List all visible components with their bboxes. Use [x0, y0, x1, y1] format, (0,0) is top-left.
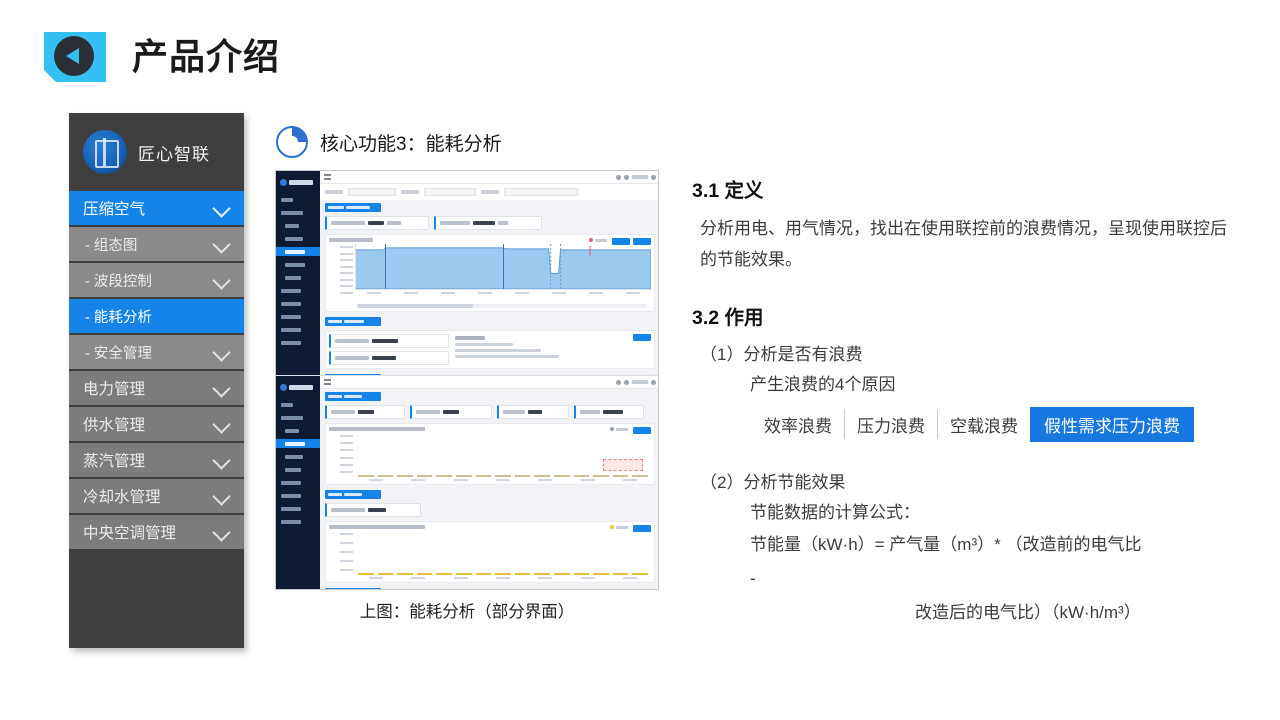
- app-nav-item[interactable]: [276, 260, 320, 269]
- app-nav-item[interactable]: [276, 491, 320, 500]
- app-brand-label: [289, 385, 313, 390]
- slide-canvas: 产品介绍 匠心智联 压缩空气 - 组态图 - 波段控制 - 能耗分析: [0, 0, 1280, 720]
- purpose-item-1: （1）分析是否有浪费: [692, 340, 1240, 370]
- app-nav-item[interactable]: [276, 299, 320, 308]
- chevron-down-icon[interactable]: [212, 271, 230, 289]
- export-button[interactable]: [633, 525, 651, 532]
- sidebar-item-label: 电力管理: [83, 377, 145, 399]
- sidebar-item-label: 中央空调管理: [83, 521, 176, 543]
- heading-purpose: 3.2 作用: [692, 301, 1240, 330]
- filter-select-station[interactable]: [348, 188, 396, 196]
- sidebar-item-compressed-air[interactable]: 压缩空气: [69, 191, 244, 225]
- app-nav: [276, 195, 320, 347]
- screenshot-stack: [276, 171, 659, 590]
- kpi-card-ratio-after: [410, 405, 492, 419]
- app-nav-item[interactable]: [276, 195, 320, 204]
- tab-row: [320, 314, 659, 328]
- embedded-screenshot: [275, 170, 659, 590]
- app-nav-item-active[interactable]: [276, 439, 320, 448]
- section-heading: 核心功能3：能耗分析: [276, 126, 502, 158]
- app-nav-item[interactable]: [276, 413, 320, 422]
- app-nav-item[interactable]: [276, 517, 320, 526]
- kpi-card-gas-volume: [325, 216, 429, 230]
- x-axis: [355, 575, 651, 579]
- panel-power-bar-chart: [325, 521, 655, 583]
- screenshot-pane-top: [276, 171, 659, 376]
- user-name-label: [632, 380, 648, 384]
- tab-saving-analysis[interactable]: [325, 392, 381, 401]
- app-nav-item[interactable]: [276, 234, 320, 243]
- sidebar-item-label: 供水管理: [83, 413, 145, 435]
- app-nav-item[interactable]: [276, 286, 320, 295]
- heading-definition: 3.1 定义: [692, 174, 1240, 203]
- sidebar-item-label: - 安全管理: [85, 342, 152, 363]
- triangle-glyph: [66, 48, 79, 64]
- gear-icon[interactable]: [651, 175, 656, 180]
- topbar-actions: [616, 175, 656, 180]
- app-topbar: [320, 376, 659, 389]
- tab-trend-analysis[interactable]: [325, 203, 381, 212]
- x-axis: [355, 290, 651, 294]
- app-logo-icon: [280, 179, 287, 186]
- header-badge: [44, 32, 106, 82]
- app-nav-item[interactable]: [276, 452, 320, 461]
- tab-row: [320, 585, 659, 590]
- tab-row: [320, 389, 659, 403]
- y-axis: [329, 433, 355, 481]
- panel-title: [329, 238, 373, 242]
- app-nav: [276, 400, 320, 526]
- app-content: [320, 171, 659, 376]
- panel-title: [329, 525, 425, 529]
- chevron-down-icon[interactable]: [212, 415, 230, 433]
- app-brand: [276, 380, 320, 394]
- sidebar-item-label: 压缩空气: [83, 197, 145, 219]
- formula-dash: -: [750, 562, 1240, 596]
- filter-bar: [320, 184, 659, 200]
- detail-button[interactable]: [633, 334, 651, 341]
- area-plot: [355, 244, 651, 290]
- menu-burger-icon[interactable]: [324, 379, 331, 385]
- kpi-card-ratio-before: [325, 405, 405, 419]
- chevron-down-icon[interactable]: [212, 343, 230, 361]
- sidebar-item-label: 冷却水管理: [83, 485, 161, 507]
- chevron-down-icon[interactable]: [212, 235, 230, 253]
- chip-idle-waste[interactable]: 空载浪费: [938, 407, 1030, 442]
- tab-energy-report[interactable]: [325, 588, 381, 590]
- chip-false-demand-pressure-waste[interactable]: 假性需求压力浪费: [1030, 407, 1194, 442]
- legend-item: [589, 238, 607, 242]
- panel-title: [329, 427, 425, 431]
- donut-chart-icon: [276, 126, 308, 158]
- filter-select-device[interactable]: [424, 188, 476, 196]
- export-button[interactable]: [633, 427, 651, 434]
- sidebar-item-band-control[interactable]: - 波段控制: [69, 263, 244, 297]
- sidebar-item-scada-diagram[interactable]: - 组态图: [69, 227, 244, 261]
- app-sidebar: [276, 171, 320, 375]
- definition-body: 分析用电、用气情况，找出在使用联控前的浪费情况，呈现使用联控后的节能效果。: [692, 213, 1240, 275]
- chevron-down-icon[interactable]: [212, 487, 230, 505]
- chevron-down-icon[interactable]: [212, 379, 230, 397]
- tab-row: [320, 200, 659, 214]
- sidebar-item-label: - 组态图: [85, 234, 137, 255]
- chip-efficiency-waste[interactable]: 效率浪费: [752, 407, 844, 442]
- bar-series-power: [355, 531, 651, 575]
- sidebar-brand: 匠心智联: [69, 113, 244, 191]
- app-brand: [276, 175, 320, 189]
- formula-line-1: 节能量（kW·h）= 产气量（m³）* （改造前的电气比: [750, 535, 1141, 554]
- app-nav-item[interactable]: [276, 208, 320, 217]
- chevron-down-icon[interactable]: [212, 199, 230, 217]
- sidebar-item-hvac-management[interactable]: 中央空调管理: [69, 515, 244, 549]
- app-nav-item[interactable]: [276, 426, 320, 435]
- app-nav-item-active[interactable]: [276, 247, 320, 256]
- sidebar-item-label: - 能耗分析: [85, 306, 152, 327]
- app-nav-item[interactable]: [276, 478, 320, 487]
- kpi-card-saving: [497, 405, 569, 419]
- panel-gas-bar-chart: [325, 423, 655, 485]
- avatar[interactable]: [624, 380, 629, 385]
- purpose-item-1-sub: 产生浪费的4个原因: [692, 370, 1240, 400]
- app-topbar: [320, 171, 659, 184]
- refresh-button[interactable]: [612, 238, 630, 245]
- app-logo-icon: [280, 384, 287, 391]
- filter-label: [325, 190, 343, 194]
- page-title: 产品介绍: [132, 39, 280, 75]
- tab-row: [320, 487, 659, 501]
- app-nav-item[interactable]: [276, 273, 320, 282]
- panel-waste-summary: [325, 330, 655, 369]
- kpi-row: [320, 214, 659, 232]
- tab-waste-analysis[interactable]: [325, 317, 381, 326]
- export-button[interactable]: [633, 238, 651, 245]
- product-sidebar: 匠心智联 压缩空气 - 组态图 - 波段控制 - 能耗分析 - 安全管理: [69, 113, 244, 648]
- sidebar-brand-label: 匠心智联: [138, 140, 210, 165]
- area-series: [356, 244, 651, 289]
- brand-circle-logo-icon: [83, 130, 127, 174]
- filter-label: [481, 190, 499, 194]
- screenshot-caption: 上图：能耗分析（部分界面）: [275, 598, 659, 622]
- topbar-actions: [616, 380, 656, 385]
- sidebar-item-cooling-water-management[interactable]: 冷却水管理: [69, 479, 244, 513]
- x-axis: [355, 477, 651, 481]
- kpi-card-gas-total: [329, 334, 449, 348]
- search-icon[interactable]: [616, 175, 621, 180]
- saving-formula: 节能量（kW·h）= 产气量（m³）* （改造前的电气比 - 改造后的电气比）（…: [692, 528, 1240, 630]
- panel-trend-chart: [325, 234, 655, 312]
- purpose-item-2: （2）分析节能效果: [692, 468, 1240, 498]
- sidebar-item-water-supply-management[interactable]: 供水管理: [69, 407, 244, 441]
- slide-header: 产品介绍: [44, 32, 280, 82]
- right-content: 3.1 定义 分析用电、用气情况，找出在使用联控前的浪费情况，呈现使用联控后的节…: [692, 174, 1240, 630]
- sidebar-item-label: 蒸汽管理: [83, 449, 145, 471]
- purpose-block-2: （2）分析节能效果 节能数据的计算公式： 节能量（kW·h）= 产气量（m³）*…: [692, 468, 1240, 630]
- app-nav-item[interactable]: [276, 221, 320, 230]
- tab-power-analysis[interactable]: [325, 490, 381, 499]
- sidebar-item-label: - 波段控制: [85, 270, 152, 291]
- chart-hscrollbar[interactable]: [357, 304, 647, 308]
- kpi-row-power: [320, 501, 659, 519]
- kpi-card-saving-total: [574, 405, 644, 419]
- chip-pressure-waste[interactable]: 压力浪费: [845, 407, 937, 442]
- sidebar-item-power-management[interactable]: 电力管理: [69, 371, 244, 405]
- kpi-card-power-consumption: [325, 503, 421, 517]
- app-content: [320, 376, 659, 590]
- play-left-triangle-icon: [54, 36, 94, 76]
- y-axis: [329, 531, 355, 579]
- legend-item: [610, 525, 628, 529]
- app-nav-item[interactable]: [276, 325, 320, 334]
- y-axis: [329, 244, 355, 302]
- sidebar-item-safety-management[interactable]: - 安全管理: [69, 335, 244, 369]
- kpi-row-ratios: [320, 403, 659, 421]
- filter-label: [401, 190, 419, 194]
- avatar[interactable]: [624, 175, 629, 180]
- kpi-card-power-total: [329, 351, 449, 365]
- formula-line-2: 改造后的电气比）（kW·h/m³）: [750, 596, 1240, 630]
- app-brand-label: [289, 180, 313, 185]
- screenshot-pane-bottom: [276, 376, 659, 590]
- chart-annotation: [603, 459, 643, 471]
- waste-reason-chip-group: 效率浪费 压力浪费 空载浪费 假性需求压力浪费: [692, 407, 1240, 442]
- chevron-down-icon[interactable]: [212, 523, 230, 541]
- kpi-card-power: [434, 216, 542, 230]
- app-nav-item[interactable]: [276, 400, 320, 409]
- app-sidebar: [276, 376, 320, 590]
- chevron-down-icon[interactable]: [212, 451, 230, 469]
- sidebar-menu: 压缩空气 - 组态图 - 波段控制 - 能耗分析 - 安全管理 电力管理: [69, 191, 244, 549]
- filter-date-range[interactable]: [504, 188, 578, 196]
- sidebar-item-energy-analysis[interactable]: - 能耗分析: [69, 299, 244, 333]
- area-chart: [329, 244, 651, 302]
- sidebar-item-steam-management[interactable]: 蒸汽管理: [69, 443, 244, 477]
- app-nav-item[interactable]: [276, 465, 320, 474]
- app-nav-item[interactable]: [276, 504, 320, 513]
- search-icon[interactable]: [616, 380, 621, 385]
- purpose-item-2-sub: 节能数据的计算公式：: [692, 498, 1240, 528]
- app-nav-item[interactable]: [276, 312, 320, 321]
- section-heading-label: 核心功能3：能耗分析: [320, 129, 502, 156]
- gear-icon[interactable]: [651, 380, 656, 385]
- app-nav-item[interactable]: [276, 338, 320, 347]
- menu-burger-icon[interactable]: [324, 174, 331, 180]
- legend-item: [610, 427, 628, 431]
- user-name-label: [632, 175, 648, 179]
